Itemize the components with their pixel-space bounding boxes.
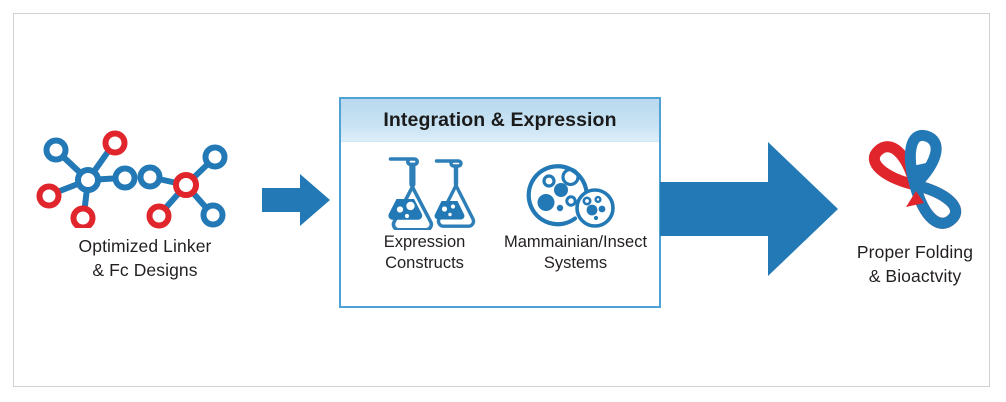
panel-item-cell-systems: Mammainian/Insect Systems bbox=[501, 156, 651, 274]
optimized-linker-label: Optimized Linker & Fc Designs bbox=[36, 234, 254, 282]
panel-item-cell-systems-label: Mammainian/Insect Systems bbox=[501, 232, 651, 274]
flasks-icon bbox=[372, 156, 478, 230]
proper-folding-label: Proper Folding & Bioactvity bbox=[826, 240, 1004, 288]
flasks-icon-wrap bbox=[350, 156, 500, 230]
arrow-small-icon bbox=[262, 174, 330, 226]
protein-folding-icon bbox=[852, 129, 978, 241]
proper-folding-stage: Proper Folding & Bioactvity bbox=[826, 130, 1004, 288]
panel-header: Integration & Expression bbox=[341, 99, 659, 142]
cell-culture-icon bbox=[523, 156, 629, 230]
cell-culture-icon-wrap bbox=[501, 156, 651, 230]
optimized-linker-stage: Optimized Linker & Fc Designs bbox=[36, 126, 254, 282]
panel-item-expression-constructs-label: Expression Constructs bbox=[350, 232, 500, 274]
molecule-group bbox=[36, 126, 254, 234]
panel-body: Expression Constructs bbox=[341, 142, 659, 274]
molecule-one-icon bbox=[36, 128, 141, 228]
panel-item-expression-constructs: Expression Constructs bbox=[350, 156, 500, 274]
molecule-two-icon bbox=[136, 140, 236, 235]
diagram-canvas: Optimized Linker & Fc Designs Integratio… bbox=[0, 0, 1006, 402]
protein-folding-icon-wrap bbox=[826, 130, 1004, 240]
arrow-big-icon bbox=[660, 142, 838, 276]
panel-title: Integration & Expression bbox=[383, 109, 616, 132]
integration-expression-panel: Integration & Expression bbox=[339, 97, 661, 308]
